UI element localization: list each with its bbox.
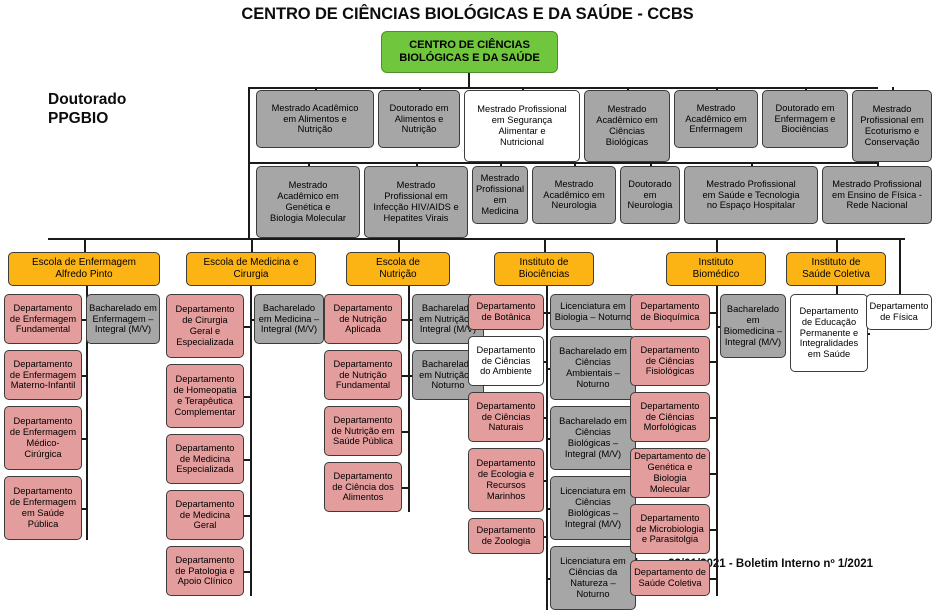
connector-unit-stem-2 xyxy=(398,238,400,252)
connector-dept-stub-3-3 xyxy=(544,480,546,482)
program-node-programs_row1-3[interactable]: Mestrado Acadêmico em Ciências Biológica… xyxy=(584,90,670,162)
program-node-programs_row2-4[interactable]: Doutorado em Neurologia xyxy=(620,166,680,224)
connector-dept-stub-4-1 xyxy=(710,361,716,363)
connector-dept-stub-4-2 xyxy=(710,417,716,419)
department-node-4-2[interactable]: Departamento de Ciências Morfológicas xyxy=(630,392,710,442)
connector-standalone-stem-0 xyxy=(899,238,901,294)
connector-dept-stub-4-3 xyxy=(710,473,716,475)
course-node-3-0[interactable]: Licenciatura em Biologia – Noturno xyxy=(550,294,636,330)
connector-dept-stub-3-2 xyxy=(544,417,546,419)
connector-unit-spine-3 xyxy=(546,286,548,610)
department-node-2-2[interactable]: Departamento de Nutrição em Saúde Públic… xyxy=(324,406,402,456)
department-node-1-3[interactable]: Departamento de Medicina Geral xyxy=(166,490,244,540)
program-node-programs_row1-1[interactable]: Doutorado em Alimentos e Nutrição xyxy=(378,90,460,148)
department-node-3-0[interactable]: Departamento de Botânica xyxy=(468,294,544,330)
connector-dept-stub-2-2 xyxy=(402,431,408,433)
program-node-programs_row1-2[interactable]: Mestrado Profissional em Segurança Alime… xyxy=(464,90,580,162)
department-node-0-1[interactable]: Departamento de Enfermagem Materno-Infan… xyxy=(4,350,82,400)
standalone-node-0[interactable]: Departamento de Física xyxy=(866,294,932,330)
connector-dept-stub-5-0 xyxy=(868,333,870,335)
department-node-1-4[interactable]: Departamento de Patologia e Apoio Clínic… xyxy=(166,546,244,596)
connector-dept-stub-3-4 xyxy=(544,536,546,538)
connector-unit-stem-1 xyxy=(251,238,253,252)
program-node-programs_row2-1[interactable]: Mestrado Profissional em Infecção HIV/AI… xyxy=(364,166,468,238)
department-node-1-1[interactable]: Departamento de Homeopatia e Terapêutica… xyxy=(166,364,244,428)
connector-unit-stem-4 xyxy=(716,238,718,252)
connector-unit-spine-1 xyxy=(250,286,252,596)
connector-dept-stub-4-4 xyxy=(710,529,716,531)
connector-dept-stub-0-3 xyxy=(82,508,86,510)
department-node-2-3[interactable]: Departamento de Ciência dos Alimentos xyxy=(324,462,402,512)
department-node-1-0[interactable]: Departamento de Cirurgia Geral e Especia… xyxy=(166,294,244,358)
department-node-2-0[interactable]: Departamento de Nutrição Aplicada xyxy=(324,294,402,344)
page-title: CENTRO DE CIÊNCIAS BIOLÓGICAS E DA SAÚDE… xyxy=(0,5,935,24)
connector-row1-bus xyxy=(248,87,878,89)
department-node-3-3[interactable]: Departamento de Ecologia e Recursos Mari… xyxy=(468,448,544,512)
unit-node-3[interactable]: Instituto de Biociências xyxy=(494,252,594,286)
department-node-4-1[interactable]: Departamento de Ciências Fisiológicas xyxy=(630,336,710,386)
department-node-5-0[interactable]: Departamento de Educação Permanente e In… xyxy=(790,294,868,372)
connector-units-bus xyxy=(48,238,905,240)
course-node-3-1[interactable]: Bacharelado em Ciências Ambientais – Not… xyxy=(550,336,636,400)
root-node-ccbs[interactable]: CENTRO DE CIÊNCIAS BIOLÓGICAS E DA SAÚDE xyxy=(381,31,558,73)
program-node-programs_row2-3[interactable]: Mestrado Acadêmico em Neurologia xyxy=(532,166,616,224)
connector-row2-bus xyxy=(248,162,878,164)
connector-dept-stub-0-1 xyxy=(82,375,86,377)
department-node-3-1[interactable]: Departamento de Ciências do Ambiente xyxy=(468,336,544,386)
connector-dept-stub-1-0 xyxy=(244,326,250,328)
department-node-0-3[interactable]: Departamento de Enfermagem em Saúde Públ… xyxy=(4,476,82,540)
course-node-0-0[interactable]: Bacharelado em Enfermagem – Integral (M/… xyxy=(86,294,160,344)
department-node-0-0[interactable]: Departamento de Enfermagem Fundamental xyxy=(4,294,82,344)
department-node-3-2[interactable]: Departamento de Ciências Naturais xyxy=(468,392,544,442)
connector-dept-stub-2-3 xyxy=(402,487,408,489)
course-node-3-4[interactable]: Licenciatura em Ciências da Natureza – N… xyxy=(550,546,636,610)
unit-node-1[interactable]: Escola de Medicina e Cirurgia xyxy=(186,252,316,286)
department-node-4-4[interactable]: Departamento de Microbiologia e Parasito… xyxy=(630,504,710,554)
course-node-3-3[interactable]: Licenciatura em Ciências Biológicas – In… xyxy=(550,476,636,540)
connector-dept-stub-1-2 xyxy=(244,459,250,461)
program-node-programs_row2-6[interactable]: Mestrado Profissional em Ensino de Físic… xyxy=(822,166,932,224)
course-node-1-0[interactable]: Bacharelado em Medicina – Integral (M/V) xyxy=(254,294,324,344)
side-annotation-ppgbio: Doutorado PPGBIO xyxy=(48,90,126,129)
unit-node-4[interactable]: Instituto Biomédico xyxy=(666,252,766,286)
unit-node-0[interactable]: Escola de Enfermagem Alfredo Pinto xyxy=(8,252,160,286)
unit-node-2[interactable]: Escola de Nutrição xyxy=(346,252,450,286)
connector-unit-stem-3 xyxy=(544,238,546,252)
program-node-programs_row1-5[interactable]: Doutorado em Enfermagem e Biociências xyxy=(762,90,848,148)
connector-root-stem xyxy=(468,73,470,87)
program-node-programs_row2-2[interactable]: Mestrado Profissional em Medicina xyxy=(472,166,528,224)
department-node-2-1[interactable]: Departamento de Nutrição Fundamental xyxy=(324,350,402,400)
connector-unit-stem-0 xyxy=(84,238,86,252)
department-node-1-2[interactable]: Departamento de Medicina Especializada xyxy=(166,434,244,484)
connector-dept-stub-1-1 xyxy=(244,396,250,398)
program-node-programs_row2-0[interactable]: Mestrado Acadêmico em Genética e Biologi… xyxy=(256,166,360,238)
connector-unit-spine-4 xyxy=(716,286,718,596)
program-node-programs_row2-5[interactable]: Mestrado Profissional em Saúde e Tecnolo… xyxy=(684,166,818,224)
connector-dept-stub-1-3 xyxy=(244,515,250,517)
connector-dept-stub-0-2 xyxy=(82,438,86,440)
department-node-3-4[interactable]: Departamento de Zoologia xyxy=(468,518,544,554)
program-node-programs_row1-0[interactable]: Mestrado Acadêmico em Alimentos e Nutriç… xyxy=(256,90,374,148)
connector-dept-stub-1-4 xyxy=(244,571,250,573)
connector-dept-stub-4-0 xyxy=(710,312,716,314)
course-node-4-0[interactable]: Bacharelado em Biomedicina – Integral (M… xyxy=(720,294,786,358)
organogram-canvas: CENTRO DE CIÊNCIAS BIOLÓGICAS E DA SAÚDE… xyxy=(0,0,935,579)
connector-unit-stem-5 xyxy=(836,238,838,252)
course-node-3-2[interactable]: Bacharelado em Ciências Biológicas – Int… xyxy=(550,406,636,470)
department-node-4-3[interactable]: Departamento de Genética e Biologia Mole… xyxy=(630,448,710,498)
department-node-4-0[interactable]: Departamento de Bioquímica xyxy=(630,294,710,330)
program-node-programs_row1-4[interactable]: Mestrado Acadêmico em Enfermagem xyxy=(674,90,758,148)
program-node-programs_row1-6[interactable]: Mestrado Profissional em Ecoturismo e Co… xyxy=(852,90,932,162)
department-node-4-5[interactable]: Departamento de Saúde Coletiva xyxy=(630,560,710,596)
department-node-0-2[interactable]: Departamento de Enfermagem Médico- Cirúr… xyxy=(4,406,82,470)
unit-node-5[interactable]: Instituto de Saúde Coletiva xyxy=(786,252,886,286)
connector-dept-stub-3-1 xyxy=(544,361,546,363)
